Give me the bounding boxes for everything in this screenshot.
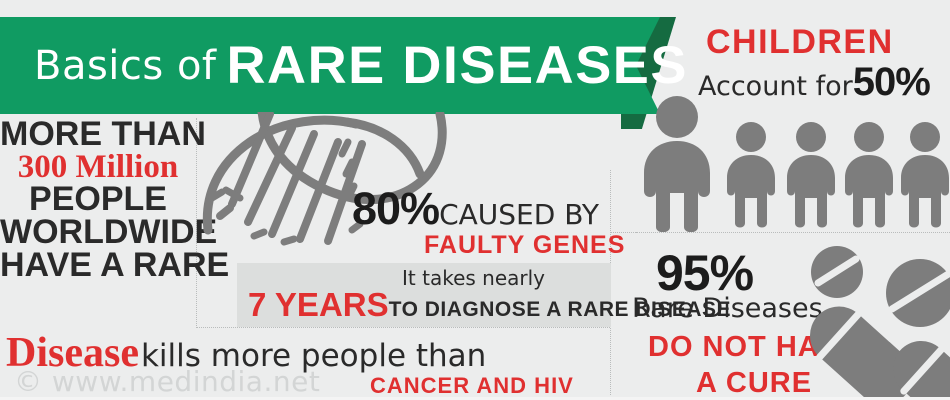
left-line-5: HAVE A RARE bbox=[0, 249, 196, 282]
diagnosis-duration-value: 7 YEARS bbox=[248, 288, 389, 321]
left-line-2-highlight: 300 Million bbox=[0, 151, 196, 183]
kills-comparison-label: CANCER AND HIV bbox=[370, 373, 574, 399]
header-banner: Basics of RARE DISEASES bbox=[0, 17, 690, 114]
banner-text-group: Basics of RARE DISEASES bbox=[0, 17, 625, 114]
divider-center-horizontal bbox=[196, 327, 610, 328]
diagnosis-lead-label: It takes nearly bbox=[402, 266, 545, 290]
left-line-1: MORE THAN bbox=[0, 118, 196, 151]
genes-percent-line: 80% CAUSED BY bbox=[352, 186, 599, 231]
genes-percent-value: 80% bbox=[352, 186, 439, 231]
infographic-canvas: Basics of RARE DISEASES MORE THAN 300 Mi… bbox=[0, 0, 950, 400]
watermark-text: © www.medindia.net bbox=[14, 365, 320, 398]
children-title: CHILDREN bbox=[706, 23, 894, 62]
pills-icon bbox=[790, 245, 950, 400]
cure-percent-value: 95% bbox=[656, 248, 753, 298]
page-title: RARE DISEASES bbox=[226, 35, 687, 96]
left-line-3: PEOPLE bbox=[0, 183, 196, 216]
divider-people-baseline bbox=[636, 232, 950, 233]
banner-prefix: Basics of bbox=[34, 43, 217, 89]
genes-caused-by-label: CAUSED BY bbox=[439, 201, 599, 229]
people-figures-icon bbox=[636, 95, 950, 232]
left-stat-panel: MORE THAN 300 Million PEOPLE WORLDWIDE H… bbox=[0, 118, 196, 282]
genes-reason-label: FAULTY GENES bbox=[424, 231, 625, 260]
left-line-4: WORLDWIDE bbox=[0, 216, 196, 249]
